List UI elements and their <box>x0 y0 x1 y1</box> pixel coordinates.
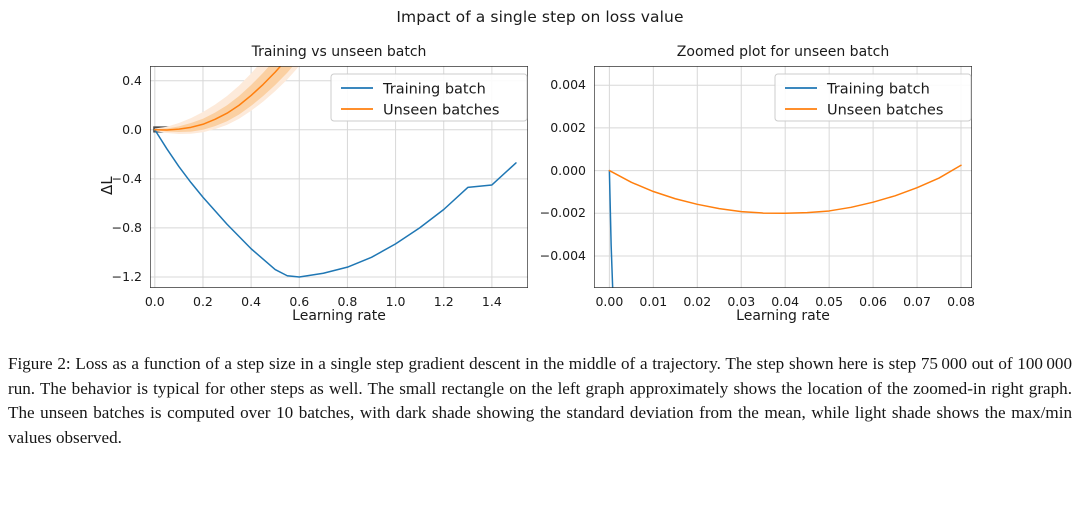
y-tick-label: −0.4 <box>84 171 142 186</box>
y-tick-label: −0.004 <box>528 248 586 263</box>
y-tick-label: 0.002 <box>528 120 586 135</box>
figure-container: Impact of a single step on loss value Tr… <box>0 0 1080 345</box>
right-plot-canvas: Training batchUnseen batches <box>594 66 972 288</box>
y-tick-label: 0.004 <box>528 77 586 92</box>
y-tick-label: −1.2 <box>84 269 142 284</box>
y-tick-label: 0.000 <box>528 163 586 178</box>
right-axes-title: Zoomed plot for unseen batch <box>594 44 972 60</box>
svg-text:Training batch: Training batch <box>826 82 930 98</box>
svg-text:Unseen batches: Unseen batches <box>383 103 499 119</box>
y-tick-label: −0.8 <box>84 220 142 235</box>
y-tick-label: 0.0 <box>84 122 142 137</box>
x-tick-label: 1.4 <box>462 294 522 309</box>
figure-suptitle: Impact of a single step on loss value <box>0 8 1080 26</box>
left-axes-xlabel: Learning rate <box>150 308 528 324</box>
svg-text:Unseen batches: Unseen batches <box>827 103 943 119</box>
x-tick-label: 0.08 <box>931 294 991 309</box>
figure-caption: Figure 2: Loss as a function of a step s… <box>8 352 1072 450</box>
left-plot-canvas: Training batchUnseen batches <box>150 66 528 288</box>
left-axes-title: Training vs unseen batch <box>150 44 528 60</box>
right-axes-xlabel: Learning rate <box>594 308 972 324</box>
svg-text:Training batch: Training batch <box>382 82 486 98</box>
y-tick-label: −0.002 <box>528 205 586 220</box>
y-tick-label: 0.4 <box>84 73 142 88</box>
